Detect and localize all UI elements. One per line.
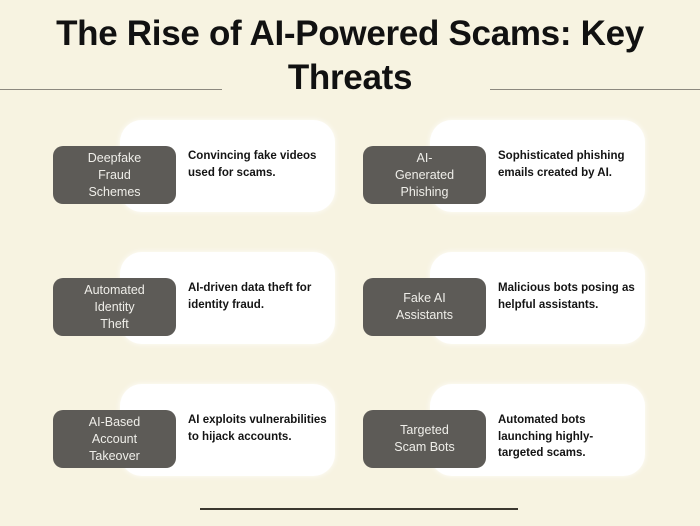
threat-card: Targeted Scam Bots Automated bots launch…	[363, 384, 645, 476]
threat-card-badge-label: Targeted Scam Bots	[394, 422, 454, 456]
threat-card-badge: Deepfake Fraud Schemes	[53, 146, 176, 204]
threat-card-badge: AI-Based Account Takeover	[53, 410, 176, 468]
threat-card: Fake AI Assistants Malicious bots posing…	[363, 252, 645, 344]
page-title: The Rise of AI-Powered Scams: Key Threat…	[0, 12, 700, 100]
threat-card-description: Sophisticated phishing emails created by…	[498, 148, 638, 181]
infographic-header: The Rise of AI-Powered Scams: Key Threat…	[0, 0, 700, 110]
footer-rule	[200, 508, 518, 510]
threat-card-badge-label: Automated Identity Theft	[84, 282, 144, 333]
threat-card: AI- Generated Phishing Sophisticated phi…	[363, 120, 645, 212]
threat-card-description: Malicious bots posing as helpful assista…	[498, 280, 638, 313]
threat-card-description: Automated bots launching highly-targeted…	[498, 412, 638, 462]
threat-card-badge: Targeted Scam Bots	[363, 410, 486, 468]
title-rule-right	[490, 89, 700, 90]
threat-card: Automated Identity Theft AI-driven data …	[53, 252, 335, 344]
title-rule-left	[0, 89, 222, 90]
threat-card-badge-label: AI- Generated Phishing	[395, 150, 454, 201]
threat-card-badge-label: Deepfake Fraud Schemes	[88, 150, 142, 201]
threat-card-badge: Automated Identity Theft	[53, 278, 176, 336]
threat-card: AI-Based Account Takeover AI exploits vu…	[53, 384, 335, 476]
threat-card-badge: Fake AI Assistants	[363, 278, 486, 336]
threat-card: Deepfake Fraud Schemes Convincing fake v…	[53, 120, 335, 212]
threat-card-grid: Deepfake Fraud Schemes Convincing fake v…	[0, 110, 700, 480]
threat-card-description: AI exploits vulnerabilities to hijack ac…	[188, 412, 328, 445]
threat-card-description: AI-driven data theft for identity fraud.	[188, 280, 328, 313]
threat-card-badge-label: AI-Based Account Takeover	[89, 414, 140, 465]
threat-card-badge: AI- Generated Phishing	[363, 146, 486, 204]
threat-card-description: Convincing fake videos used for scams.	[188, 148, 328, 181]
threat-card-badge-label: Fake AI Assistants	[396, 290, 453, 324]
